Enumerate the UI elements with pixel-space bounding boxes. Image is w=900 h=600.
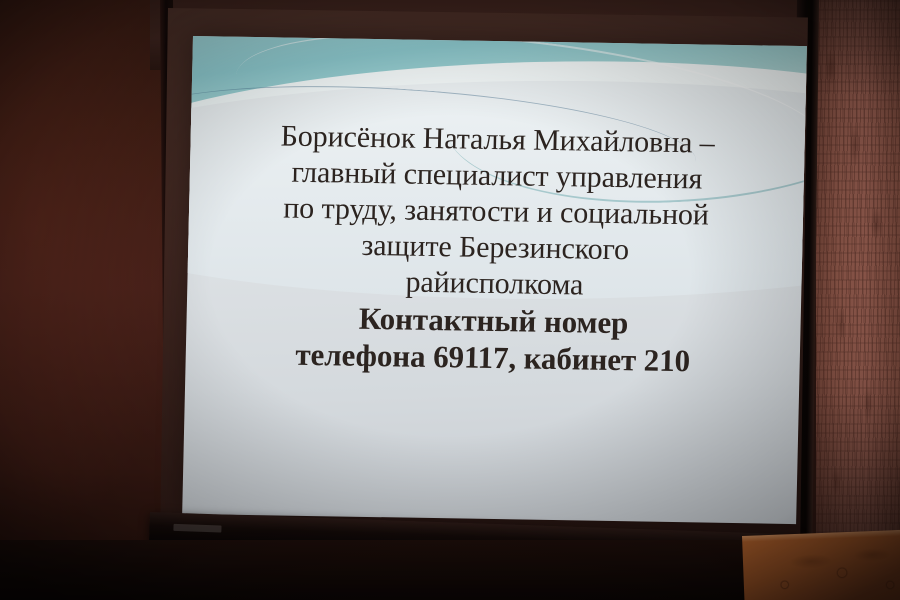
tablecloth [742, 529, 900, 600]
right-textured-wall [816, 0, 900, 560]
left-wall-light-sheen [0, 0, 175, 600]
screen-bar-label-tag [173, 524, 221, 533]
slide-contact-line-2: телефона 69117, кабинет 210 [210, 335, 776, 382]
photo-scene: Борисёнок Наталья Михайловна – главный с… [0, 0, 900, 600]
dark-floor-area [0, 540, 760, 600]
projected-slide: Борисёнок Наталья Михайловна – главный с… [182, 36, 807, 524]
slide-text-block: Борисёнок Наталья Михайловна – главный с… [210, 118, 781, 382]
wall-mottle-pattern [816, 0, 900, 560]
left-wall [0, 0, 175, 600]
tablecloth-swirl-pattern [742, 529, 900, 600]
